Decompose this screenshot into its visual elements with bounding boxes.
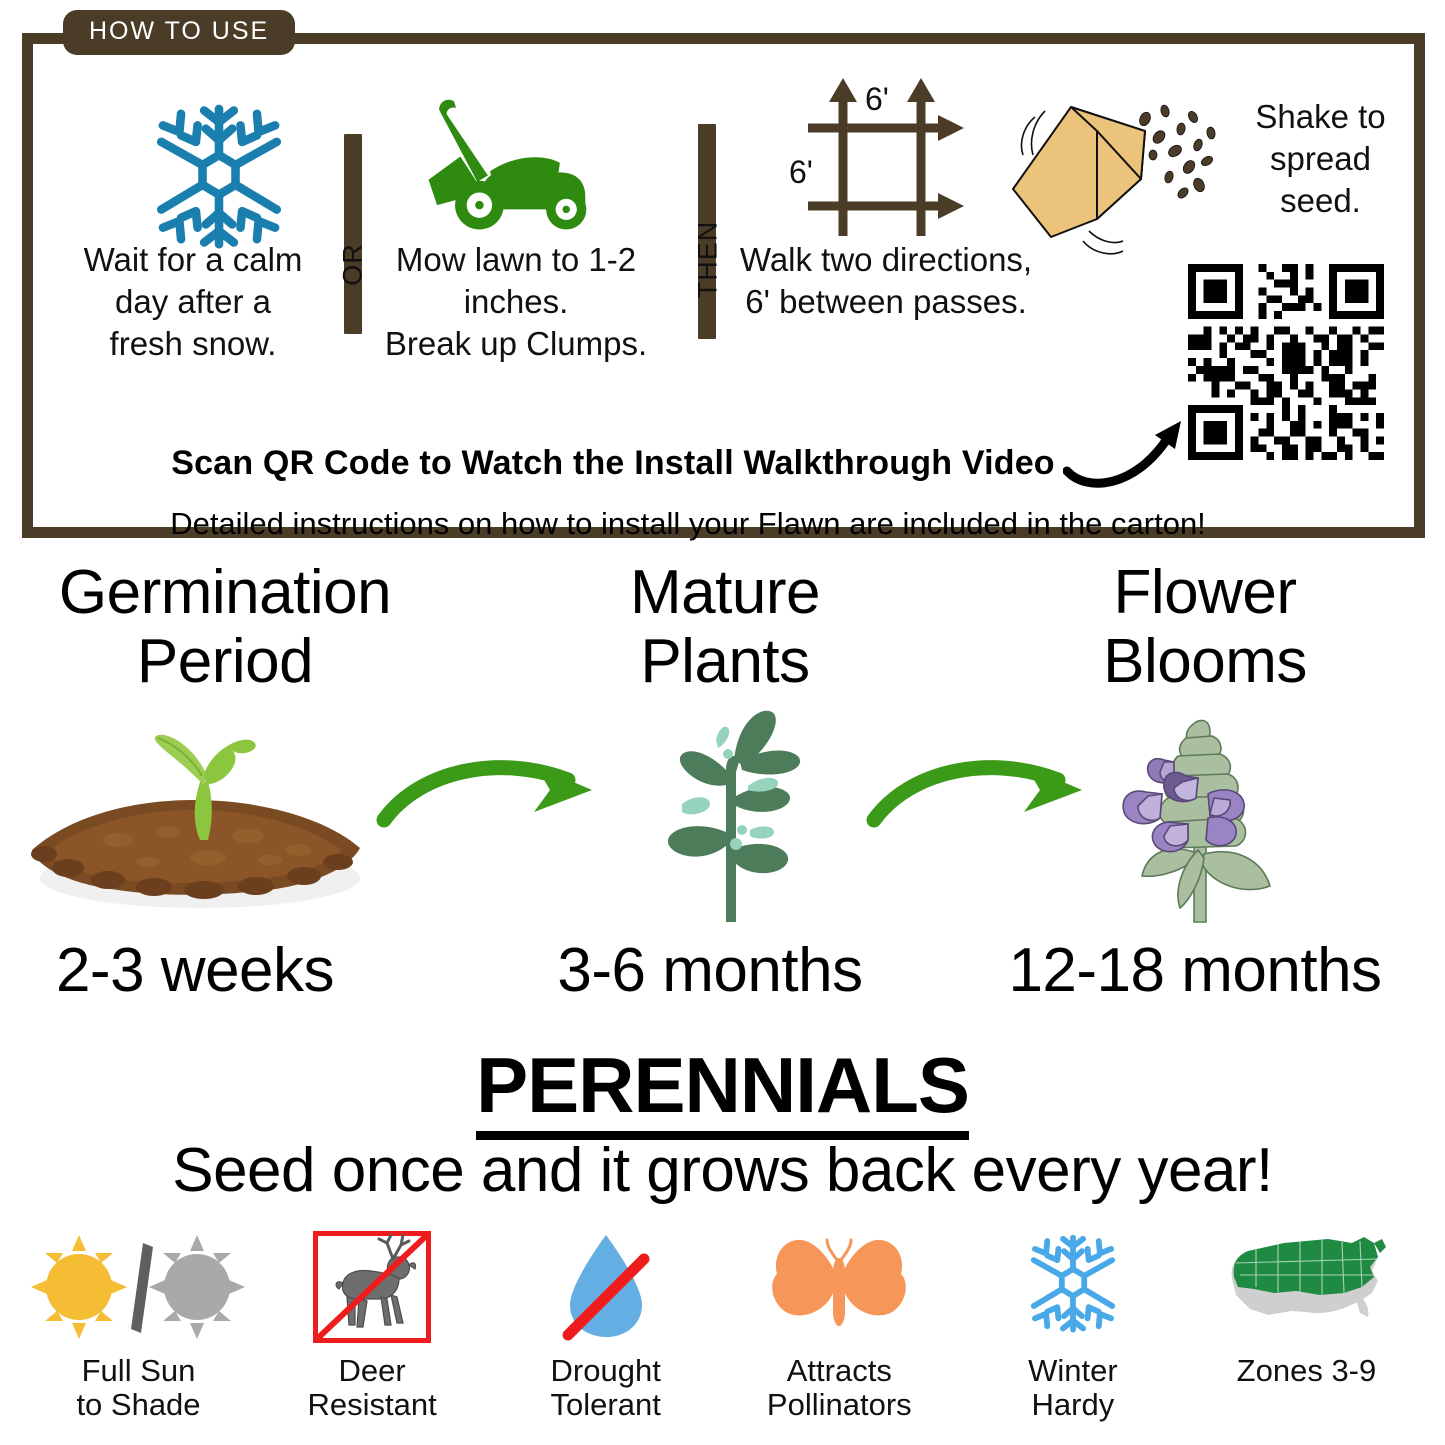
- feature-full-sun-to-shade: Full Sun to Shade: [26, 1228, 251, 1422]
- feature-drought-tolerant: Drought Tolerant: [493, 1228, 718, 1422]
- detail-instructions-text: Detailed instructions on how to install …: [73, 506, 1303, 542]
- stage-duration-flower: 12-18 months: [955, 935, 1435, 1006]
- seedling-in-soil-illustration: [8, 700, 380, 920]
- feature-attracts-pollinators: Attracts Pollinators: [727, 1228, 952, 1422]
- feature-label-zones: Zones 3-9: [1237, 1354, 1377, 1388]
- feature-deer-resistant: Deer Resistant: [260, 1228, 485, 1422]
- feature-winter-hardy: Winter Hardy: [960, 1228, 1185, 1422]
- feature-label-winter-hardy: Winter Hardy: [1028, 1354, 1118, 1422]
- purple-flower-illustration: [1090, 700, 1340, 933]
- stage-duration-mature: 3-6 months: [500, 935, 920, 1006]
- step-text-4: Shake to spread seed.: [1228, 96, 1413, 223]
- seed-carton-shake-icon: [993, 89, 1233, 264]
- how-to-use-badge: HOW TO USE: [63, 10, 295, 55]
- step-text-2: Mow lawn to 1-2 inches. Break up Clumps.: [371, 239, 661, 366]
- snowflake-icon: [1017, 1228, 1129, 1346]
- qr-code[interactable]: [1188, 264, 1384, 465]
- feature-icon-row: Full Sun to Shade: [0, 1228, 1445, 1445]
- divider-label-or: OR: [338, 232, 369, 298]
- divider-label-then: THEN: [693, 210, 724, 310]
- perennials-heading-text: PERENNIALS: [476, 1041, 969, 1140]
- perennials-heading: PERENNIALS: [0, 1040, 1445, 1131]
- drought-tolerant-icon: [554, 1228, 658, 1346]
- feature-label-full-sun-to-shade: Full Sun to Shade: [76, 1354, 200, 1422]
- feature-label-deer-resistant: Deer Resistant: [307, 1354, 436, 1422]
- stage-title-mature: Mature Plants: [510, 558, 940, 697]
- sun-shade-icon: [31, 1228, 246, 1346]
- diagram-label-vertical: 6': [789, 154, 813, 191]
- scan-qr-text: Scan QR Code to Watch the Install Walkth…: [103, 444, 1123, 483]
- usa-map-icon: [1222, 1228, 1390, 1346]
- feature-label-drought-tolerant: Drought Tolerant: [551, 1354, 661, 1422]
- lawn-mower-icon: [418, 94, 598, 244]
- feature-label-attracts-pollinators: Attracts Pollinators: [767, 1354, 912, 1422]
- stage-title-germination: Germination Period: [10, 558, 440, 697]
- leafy-plant-illustration: [620, 700, 860, 930]
- step-text-1: Wait for a calm day after a fresh snow.: [53, 239, 333, 366]
- butterfly-icon: [769, 1228, 909, 1346]
- perennials-subtitle: Seed once and it grows back every year!: [0, 1135, 1445, 1206]
- stage-title-flower: Flower Blooms: [990, 558, 1420, 697]
- feature-zones: Zones 3-9: [1194, 1228, 1419, 1388]
- stage-duration-germination: 2-3 weeks: [0, 935, 390, 1006]
- green-arrow-icon-2: [862, 748, 1102, 837]
- diagram-label-horizontal: 6': [865, 81, 889, 118]
- deer-resistant-icon: [313, 1228, 431, 1346]
- green-arrow-icon-1: [372, 748, 612, 837]
- how-to-use-panel: Wait for a calm day after a fresh snow. …: [22, 33, 1425, 538]
